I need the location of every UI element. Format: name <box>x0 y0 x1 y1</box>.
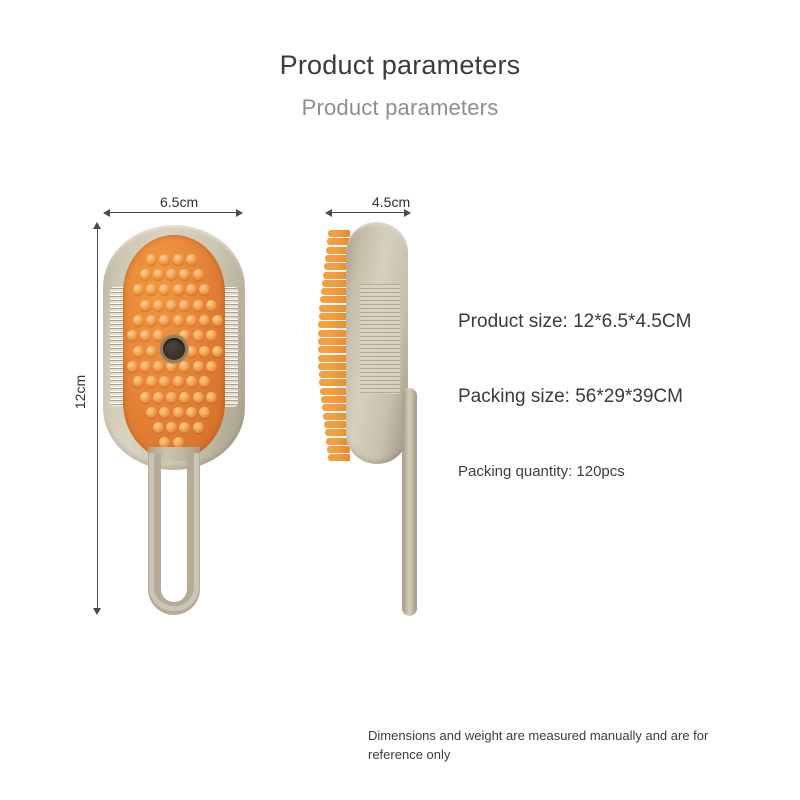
pad-bump <box>159 254 170 265</box>
dimension-line-front-width <box>104 212 242 213</box>
pad-bump <box>199 346 210 357</box>
bristle <box>328 454 350 461</box>
arrow-left-icon <box>103 209 110 217</box>
pad-bump <box>166 392 177 403</box>
pad-bump <box>206 300 217 311</box>
dimension-label-side-width: 4.5cm <box>372 194 410 210</box>
pad-bump <box>140 269 151 280</box>
pad-bump <box>179 269 190 280</box>
pad-bump <box>173 407 184 418</box>
silicone-massage-pad <box>123 235 225 460</box>
pad-bump <box>166 269 177 280</box>
comb-ribs-side <box>360 284 400 394</box>
brush-head-shell <box>103 225 245 470</box>
pad-bump <box>153 330 164 341</box>
dimension-line-side-width <box>326 212 410 213</box>
pad-bump <box>159 376 170 387</box>
pad-bump <box>146 407 157 418</box>
pad-bump <box>140 361 151 372</box>
pad-bump <box>127 330 138 341</box>
pad-bump <box>166 361 177 372</box>
pad-bump <box>179 422 190 433</box>
product-side-view <box>318 222 428 622</box>
pad-bump <box>159 407 170 418</box>
product-parameters-image: Product parameters Product parameters 6.… <box>0 0 800 800</box>
pad-bump <box>153 392 164 403</box>
pad-bump <box>179 300 190 311</box>
dimension-line-front-height <box>97 227 98 611</box>
dimension-label-front-width: 6.5cm <box>160 194 198 210</box>
bristle <box>328 230 350 237</box>
pad-bump <box>140 330 151 341</box>
pad-bump <box>166 422 177 433</box>
pad-bump <box>173 254 184 265</box>
spec-packing-size: Packing size: 56*29*39CM <box>458 386 683 408</box>
pad-bump <box>193 300 204 311</box>
pad-bump <box>153 269 164 280</box>
pad-bump <box>133 346 144 357</box>
pad-bump <box>146 346 157 357</box>
handle-loop-highlight <box>149 453 199 611</box>
bristle <box>327 446 350 453</box>
pad-bump <box>199 284 210 295</box>
brush-handle-loop <box>148 453 200 615</box>
pad-bump <box>186 284 197 295</box>
dimension-label-front-height: 12cm <box>72 370 88 414</box>
pad-bump <box>146 254 157 265</box>
steam-nozzle-hole <box>163 338 185 360</box>
pad-bump <box>173 284 184 295</box>
pad-bump <box>173 376 184 387</box>
arrow-down-icon <box>93 608 101 615</box>
comb-teeth-right <box>225 287 238 407</box>
spec-packing-quantity: Packing quantity: 120pcs <box>458 463 625 480</box>
pad-bump <box>179 361 190 372</box>
pad-bump <box>146 315 157 326</box>
pad-bump <box>146 284 157 295</box>
page-subtitle: Product parameters <box>0 95 800 121</box>
arrow-up-icon <box>93 222 101 229</box>
pad-bump <box>186 315 197 326</box>
brush-body-side <box>346 222 408 464</box>
pad-bump <box>212 346 223 357</box>
product-front-view <box>103 225 245 615</box>
pad-bump <box>186 407 197 418</box>
pad-bump <box>153 361 164 372</box>
pad-bump <box>133 376 144 387</box>
pad-bump <box>186 254 197 265</box>
arrow-left-icon <box>325 209 332 217</box>
footnote-line-1: Dimensions and weight are measured manua… <box>368 726 768 745</box>
pad-bump <box>159 315 170 326</box>
pad-bump <box>186 346 197 357</box>
pad-bump <box>133 284 144 295</box>
pad-bump <box>153 300 164 311</box>
pad-bump <box>193 330 204 341</box>
pad-bump <box>206 392 217 403</box>
arrow-right-icon <box>236 209 243 217</box>
pad-bump <box>193 392 204 403</box>
pad-bump <box>199 376 210 387</box>
pad-bump <box>127 361 138 372</box>
pad-bump <box>153 422 164 433</box>
pad-bump <box>199 407 210 418</box>
pad-bump <box>193 422 204 433</box>
pad-bump <box>166 300 177 311</box>
pad-bump <box>146 376 157 387</box>
pad-bump <box>186 376 197 387</box>
footnote-disclaimer: Dimensions and weight are measured manua… <box>368 726 768 764</box>
pad-bump <box>206 361 217 372</box>
pad-bump <box>173 315 184 326</box>
pad-bump <box>193 361 204 372</box>
pad-bump <box>206 330 217 341</box>
spec-product-size: Product size: 12*6.5*4.5CM <box>458 311 691 333</box>
pad-bump <box>193 269 204 280</box>
pad-bump <box>159 284 170 295</box>
pad-bump <box>133 315 144 326</box>
brush-handle-side <box>402 388 417 616</box>
arrow-right-icon <box>404 209 411 217</box>
pad-bump <box>140 300 151 311</box>
pad-bump <box>179 392 190 403</box>
footnote-line-2: reference only <box>368 745 768 764</box>
page-title: Product parameters <box>0 50 800 81</box>
pad-bump <box>212 315 223 326</box>
pad-bump <box>140 392 151 403</box>
comb-teeth-left <box>110 287 123 407</box>
pad-bump <box>199 315 210 326</box>
